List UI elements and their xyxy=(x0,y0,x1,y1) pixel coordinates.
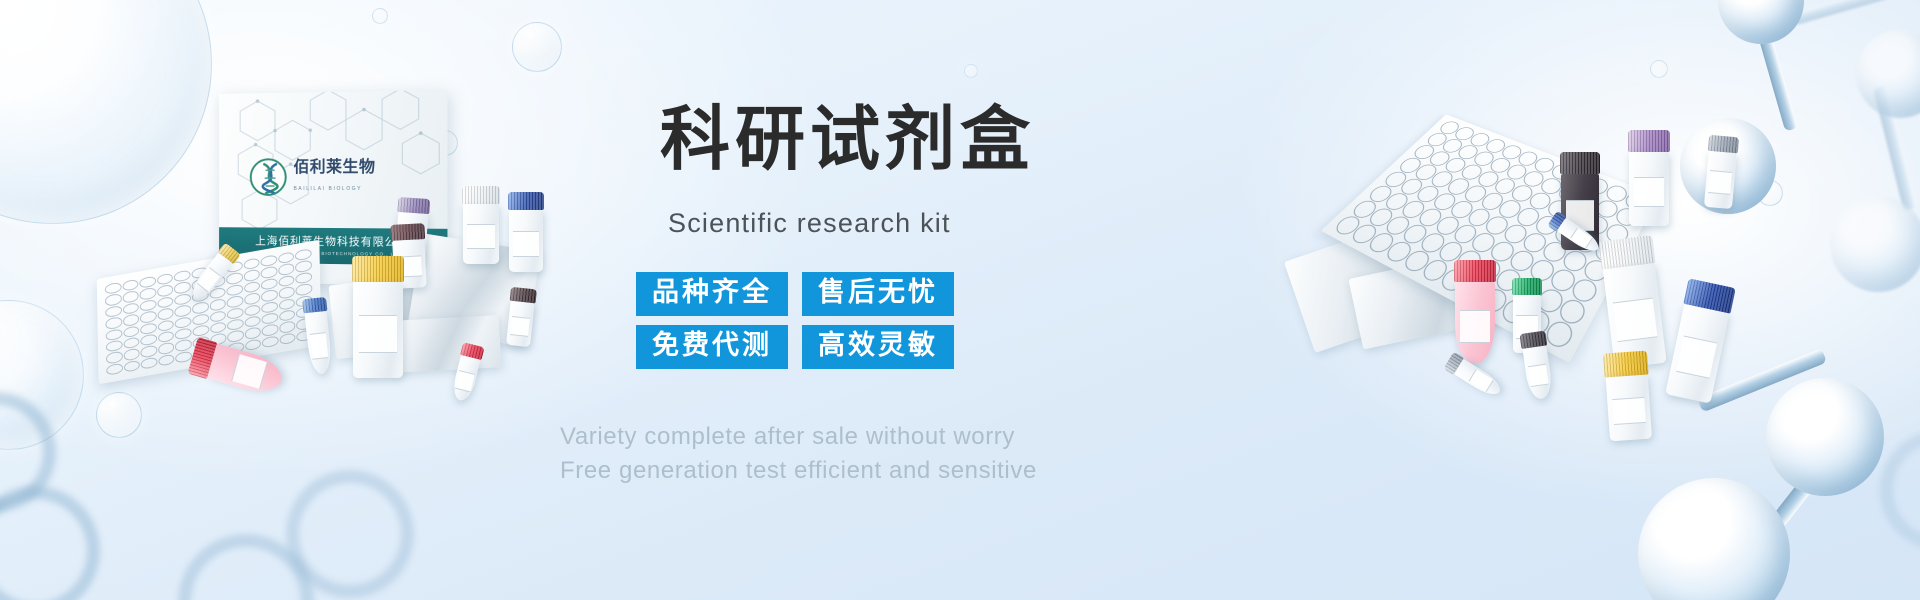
molecule-sphere-icon xyxy=(1718,0,1804,44)
product-photo-right xyxy=(1288,110,1848,410)
water-bubble-icon xyxy=(0,300,84,450)
feature-badge-sensitive[interactable]: 高效灵敏 xyxy=(802,325,954,369)
reagent-vial xyxy=(462,186,500,264)
water-bubble-icon xyxy=(372,8,388,24)
reagent-tube xyxy=(1454,260,1496,364)
vial-body xyxy=(1606,375,1652,442)
molecule-bond-icon xyxy=(1790,0,1909,26)
reagent-vial xyxy=(508,192,544,272)
tagline-block: Variety complete after sale without worr… xyxy=(560,420,1360,488)
molecule-chain-icon xyxy=(178,534,314,600)
banner-copy: 科研试剂盒 Scientific research kit 品种齐全 售后无忧 … xyxy=(560,0,1360,600)
molecule-sphere-icon xyxy=(1856,30,1920,118)
molecule-chain-icon xyxy=(286,470,414,598)
vial-body xyxy=(353,282,403,378)
vial-body xyxy=(305,311,333,375)
vial-cap-blue xyxy=(508,192,544,210)
vial-cap-dark xyxy=(1560,152,1600,174)
vial-cap-red xyxy=(1454,260,1496,282)
vial-cap-white xyxy=(462,186,500,204)
vial-body xyxy=(463,204,499,264)
molecule-sphere-icon xyxy=(1638,478,1790,600)
brand-name-cn: 佰利莱生物 xyxy=(294,159,376,176)
tagline-line-2: Free generation test efficient and sensi… xyxy=(560,454,1360,488)
dna-helix-icon xyxy=(250,158,287,196)
brand-logo: 佰利莱生物 BAILILAI BIOLOGY xyxy=(250,158,376,196)
vial-body xyxy=(1523,346,1554,401)
subtitle-en: Scientific research kit xyxy=(668,208,1248,239)
water-bubble-icon xyxy=(1650,60,1668,78)
reagent-vial xyxy=(352,256,404,378)
product-photo-left: 佰利莱生物 BAILILAI BIOLOGY 上海佰利莱生物科技有限公司 SHA… xyxy=(96,92,566,392)
scientific-research-kit-banner: 佰利莱生物 BAILILAI BIOLOGY 上海佰利莱生物科技有限公司 SHA… xyxy=(0,0,1920,600)
feature-badge-group: 品种齐全 售后无忧 免费代测 高效灵敏 xyxy=(636,272,954,369)
foil-pouch xyxy=(391,315,502,373)
tagline-line-1: Variety complete after sale without worr… xyxy=(560,420,1360,454)
vial-body xyxy=(506,301,534,347)
water-bubble-icon xyxy=(96,392,142,438)
reagent-vial xyxy=(1664,278,1735,403)
vial-body xyxy=(1704,151,1737,209)
reagent-tube xyxy=(302,297,334,375)
brand-text: 佰利莱生物 BAILILAI BIOLOGY xyxy=(294,159,376,195)
feature-badge-variety[interactable]: 品种齐全 xyxy=(636,272,788,316)
feature-badge-freetest[interactable]: 免费代测 xyxy=(636,325,788,369)
feature-badge-aftersale[interactable]: 售后无忧 xyxy=(802,272,954,316)
molecule-chain-icon xyxy=(0,392,56,512)
reagent-vial xyxy=(1603,351,1653,442)
vial-cap-yellow xyxy=(1603,351,1649,378)
vial-body xyxy=(509,210,543,272)
molecule-chain-icon xyxy=(0,486,100,600)
vial-cap-dark xyxy=(390,223,425,241)
vial-body xyxy=(1665,304,1729,404)
water-bubble-icon xyxy=(512,22,562,72)
brand-name-en: BAILILAI BIOLOGY xyxy=(294,186,363,192)
page-title: 科研试剂盒 xyxy=(660,104,1260,174)
reagent-vial xyxy=(1703,135,1739,209)
molecule-bond-icon xyxy=(1873,85,1917,211)
vial-body xyxy=(1455,282,1495,364)
vial-body xyxy=(1454,359,1504,400)
reagent-vial xyxy=(1628,130,1670,226)
vial-cap-green xyxy=(1512,278,1542,295)
vial-cap-yellow xyxy=(352,256,404,282)
reagent-vial xyxy=(1598,235,1667,369)
vial-cap-purple xyxy=(1628,130,1670,152)
molecule-chain-icon xyxy=(1880,430,1920,550)
reagent-vial xyxy=(505,287,537,347)
vial-body xyxy=(1629,152,1669,226)
molecule-bond-icon xyxy=(1738,473,1818,570)
